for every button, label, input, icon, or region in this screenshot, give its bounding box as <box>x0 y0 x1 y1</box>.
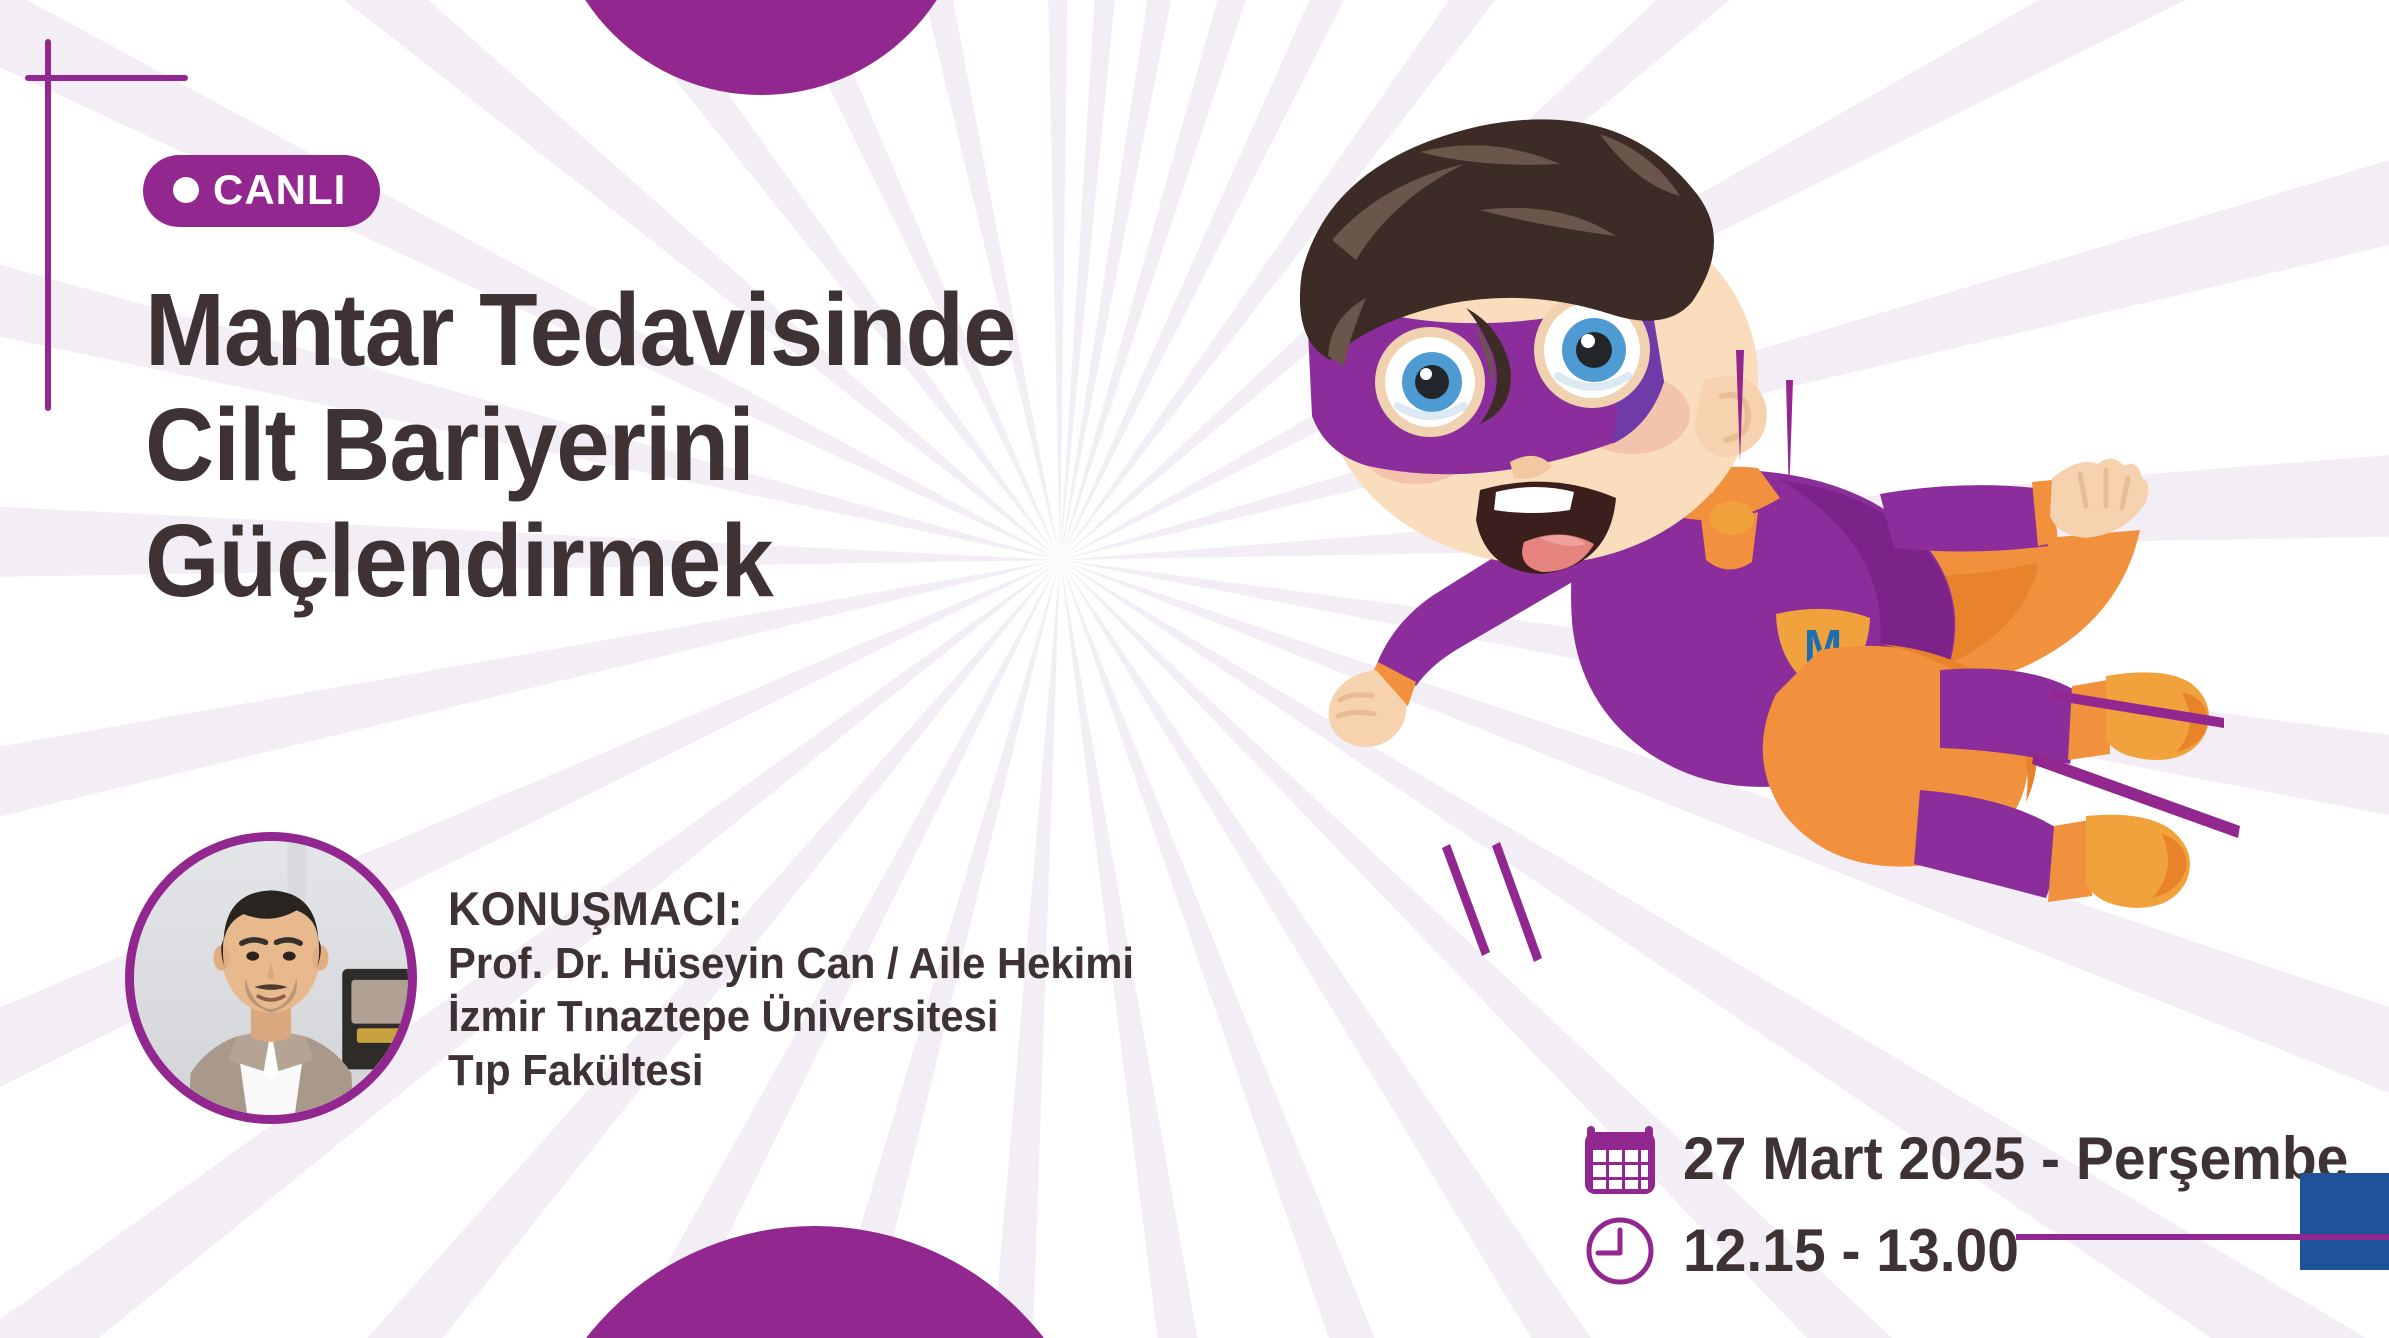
poster-canvas: CANLI Mantar Tedavisinde Cilt Bariyerini… <box>0 0 2389 1338</box>
clock-icon <box>1583 1214 1657 1288</box>
accent-square <box>2300 1173 2389 1270</box>
title-line-2: Cilt Bariyerini <box>145 387 1015 502</box>
title-line-1: Mantar Tedavisinde <box>145 272 1015 387</box>
event-date: 27 Mart 2025 - Perşembe <box>1683 1129 2348 1189</box>
speaker-institution-line: İzmir Tınaztepe Üniversitesi <box>448 990 1134 1044</box>
date-row: 27 Mart 2025 - Perşembe <box>1583 1122 2383 1196</box>
live-badge: CANLI <box>143 155 380 227</box>
speaker-name-line: Prof. Dr. Hüseyin Can / Aile Hekimi <box>448 937 1134 991</box>
live-badge-label: CANLI <box>213 169 346 211</box>
speaker-role-label: KONUŞMACI: <box>448 882 1134 937</box>
time-row: 12.15 - 13.00 <box>1583 1214 2383 1288</box>
page-title: Mantar Tedavisinde Cilt Bariyerini Güçle… <box>145 272 1015 618</box>
event-time: 12.15 - 13.00 <box>1683 1221 2019 1281</box>
title-line-3: Güçlendirmek <box>145 503 1015 618</box>
speaker-info: KONUŞMACI: Prof. Dr. Hüseyin Can / Aile … <box>448 882 1134 1098</box>
accent-rule <box>2016 1234 2389 1240</box>
schedule-block: 27 Mart 2025 - Perşembe 12.15 - 13.00 <box>1583 1122 2383 1306</box>
speaker-portrait <box>134 841 408 1115</box>
speed-lines <box>1180 230 2230 1040</box>
speaker-faculty-line: Tıp Fakültesi <box>448 1044 1134 1098</box>
calendar-icon <box>1583 1122 1657 1196</box>
live-dot-icon <box>173 177 199 203</box>
avatar <box>125 832 417 1124</box>
